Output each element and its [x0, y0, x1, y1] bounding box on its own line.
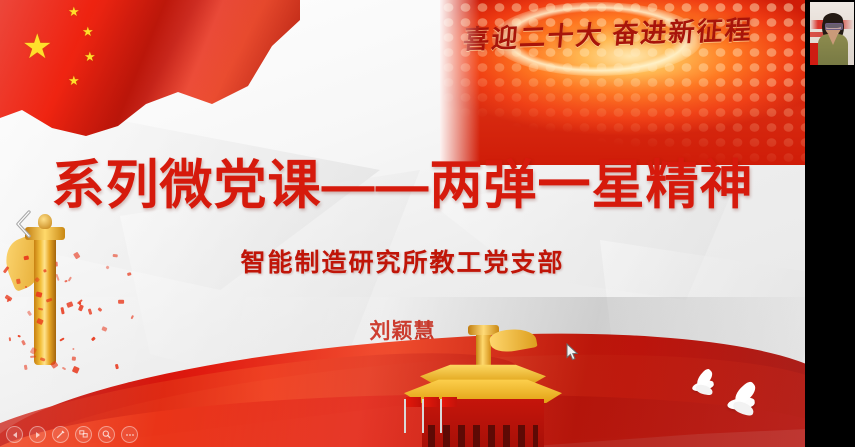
previous-slide-icon[interactable] [6, 426, 23, 443]
presenter-video-thumbnail[interactable] [810, 2, 854, 65]
flag-star-small: ★ [68, 74, 80, 87]
slideshow-screen: ★ ★ ★ ★ ★ 喜迎二十大 奋进新征程 系列微党课——两弹一星精神 智能制造… [0, 0, 855, 447]
all-slides-icon[interactable] [75, 426, 92, 443]
pen-annotation-icon[interactable] [52, 426, 69, 443]
huabiao-beast [38, 214, 52, 229]
gate-arches [428, 425, 538, 447]
huabiao-column-graphic [34, 233, 56, 365]
flag-star-small: ★ [84, 50, 96, 63]
right-black-panel [805, 0, 855, 447]
celebration-banner-graphic: 喜迎二十大 奋进新征程 [440, 0, 805, 165]
mouse-cursor [566, 343, 579, 367]
zoom-magnifier-icon[interactable] [98, 426, 115, 443]
slideshow-toolbar[interactable] [6, 426, 138, 443]
presenter-glasses [825, 23, 843, 30]
gate-mini-flag [424, 397, 439, 407]
flag-star-small: ★ [68, 5, 80, 18]
presentation-slide[interactable]: ★ ★ ★ ★ ★ 喜迎二十大 奋进新征程 系列微党课——两弹一星精神 智能制造… [0, 0, 805, 447]
more-options-icon[interactable] [121, 426, 138, 443]
banner-blend-edge [440, 0, 480, 165]
slide-title: 系列微党课——两弹一星精神 [0, 143, 805, 219]
flag-star-small: ★ [82, 25, 94, 38]
tiananmen-gate-graphic [398, 335, 568, 447]
flag-sheen [0, 0, 300, 150]
flag-star-large: ★ [22, 30, 52, 64]
chinese-flag-graphic: ★ ★ ★ ★ ★ [0, 0, 300, 150]
gate-mini-flag [442, 397, 457, 407]
previous-slide-chevron-icon[interactable] [8, 205, 38, 243]
gate-mini-flag [406, 397, 421, 407]
slide-subtitle: 智能制造研究所教工党支部 [0, 243, 805, 279]
next-slide-icon[interactable] [29, 426, 46, 443]
